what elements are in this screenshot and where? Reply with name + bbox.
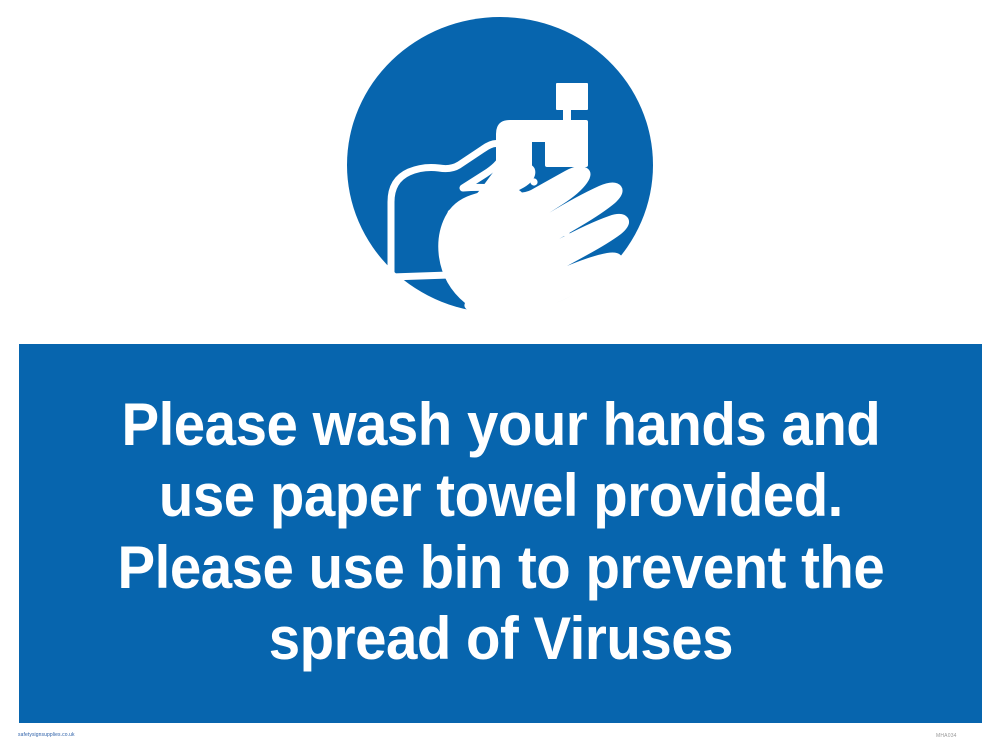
message-line-3: Please use bin to prevent the — [117, 532, 884, 603]
sign-message: Please wash your hands and use paper tow… — [117, 389, 884, 675]
message-line-4: spread of Viruses — [117, 603, 884, 674]
message-panel: Please wash your hands and use paper tow… — [19, 344, 982, 723]
footer-band — [0, 723, 1000, 750]
message-line-2: use paper towel provided. — [117, 460, 884, 531]
wash-hands-pictogram — [347, 17, 653, 313]
footer-website-url: safetysignsupplies.co.uk — [18, 732, 75, 739]
safety-sign-canvas: Please wash your hands and use paper tow… — [0, 0, 1000, 750]
message-line-1: Please wash your hands and — [117, 389, 884, 460]
footer-product-code: MHA034 — [936, 733, 957, 740]
